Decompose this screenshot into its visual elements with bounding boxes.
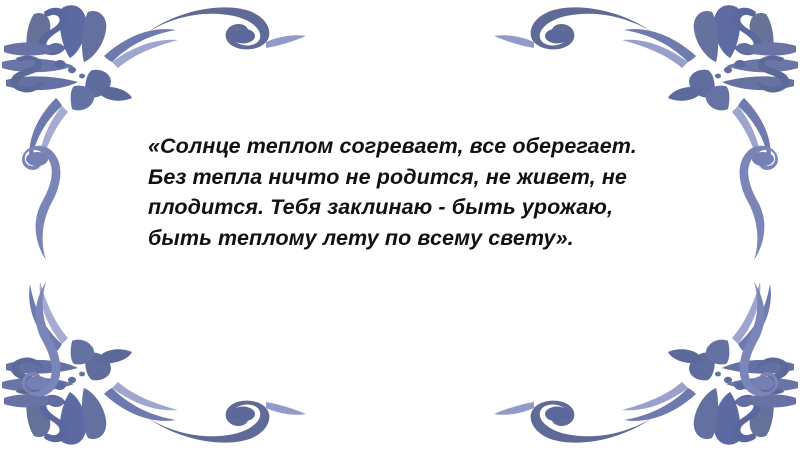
corner-ornament-bottom-left xyxy=(2,282,178,445)
corner-tint-bottom-right xyxy=(622,282,798,445)
quote-line-4: быть теплому лету по всему свету». xyxy=(148,223,708,254)
quote-line-3: плодится. Тебя заклинаю - быть урожаю, xyxy=(148,192,708,223)
edge-scroll-left xyxy=(22,146,60,397)
edge-scroll-right xyxy=(740,146,778,397)
quote-text-block: «Солнце теплом согревает, все оберегает.… xyxy=(148,131,708,253)
corner-ornament-bottom-right xyxy=(622,282,798,445)
edge-scroll-top xyxy=(148,7,652,49)
decorative-quote-card: «Солнце теплом согревает, все оберегает.… xyxy=(0,0,800,450)
quote-line-2: Без тепла ничто не родится, не живет, не xyxy=(148,162,708,193)
edge-scroll-bottom xyxy=(148,401,652,443)
quote-line-1: «Солнце теплом согревает, все оберегает. xyxy=(148,131,708,162)
